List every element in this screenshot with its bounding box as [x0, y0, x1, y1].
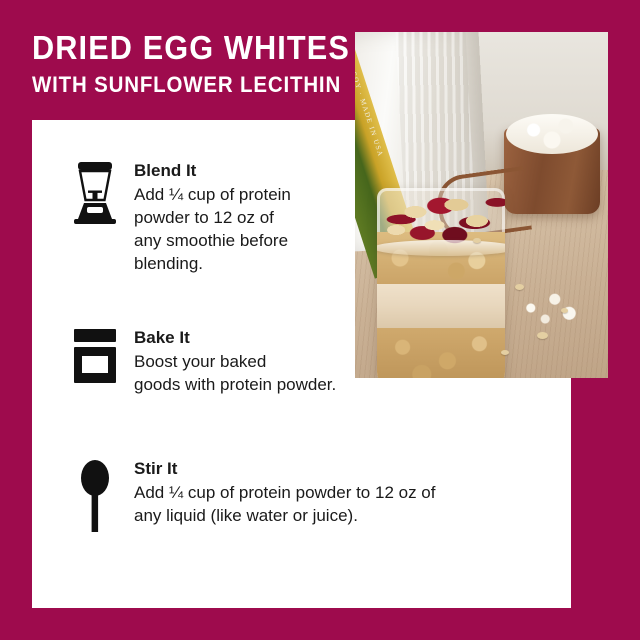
list-item: Stir It Add ¼ cup of protein powder to 1… — [56, 458, 555, 532]
parfait-jar — [377, 188, 505, 378]
spoon-icon — [56, 458, 134, 532]
oat-crumb — [473, 238, 481, 243]
step-body: Add ¼ cup of protein powder to 12 oz of … — [134, 481, 555, 527]
oat-crumb — [515, 284, 524, 290]
page-subtitle: WITH SUNFLOWER LECITHIN — [32, 72, 339, 98]
oat-flakes — [377, 188, 505, 248]
step-text: Stir It Add ¼ cup of protein powder to 1… — [134, 458, 555, 527]
granola-layer-bottom — [377, 320, 505, 378]
photo-scene: · NO SOY · MADE IN USA — [355, 32, 608, 378]
oat-crumb — [537, 332, 548, 339]
page-title: DRIED EGG WHITES — [32, 30, 339, 66]
protein-powder — [506, 114, 598, 154]
product-photo: · NO SOY · MADE IN USA — [355, 32, 608, 378]
measuring-cup — [504, 128, 600, 214]
product-poster: DRIED EGG WHITES WITH SUNFLOWER LECITHIN — [0, 0, 640, 640]
jar-icon — [56, 327, 134, 383]
jar-rim — [377, 240, 505, 256]
oat-crumb — [561, 308, 568, 313]
header: DRIED EGG WHITES WITH SUNFLOWER LECITHIN — [32, 30, 362, 98]
powder-spill — [502, 286, 598, 330]
oat-crumb — [501, 350, 509, 355]
blender-icon — [56, 160, 134, 224]
step-title: Stir It — [134, 458, 555, 479]
